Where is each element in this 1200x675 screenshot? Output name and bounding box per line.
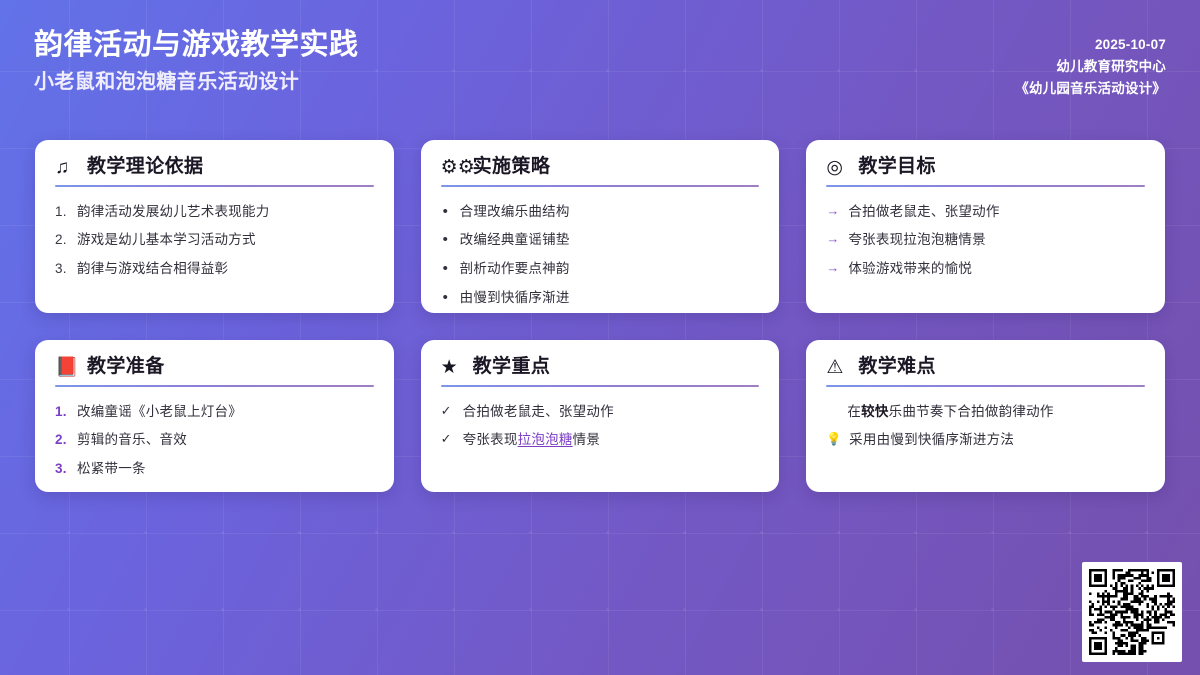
meta-source-book: 《幼儿园音乐活动设计》 xyxy=(1015,78,1166,100)
list-item-marker: 💡 xyxy=(826,430,842,448)
card-teaching-theory-basis: ♫教学理论依据1.韵律活动发展幼儿艺术表现能力2.游戏是幼儿基本学习活动方式3.… xyxy=(35,140,394,313)
list-item-marker: • xyxy=(441,288,453,308)
card-header: ◎教学目标 xyxy=(826,157,1145,185)
page-title: 韵律活动与游戏教学实践 xyxy=(34,28,359,63)
list-item: •改编经典童谣铺垫 xyxy=(441,226,760,255)
list-item-marker: 1. xyxy=(55,202,70,222)
card-grid: ♫教学理论依据1.韵律活动发展幼儿艺术表现能力2.游戏是幼儿基本学习活动方式3.… xyxy=(35,140,1165,492)
list-item-marker: 3. xyxy=(55,259,70,279)
list-item-text: 松紧带一条 xyxy=(77,459,374,479)
list-item: 💡采用由慢到快循序渐进方法 xyxy=(826,426,1145,455)
list-item-text: 韵律与游戏结合相得益彰 xyxy=(77,259,374,279)
list-item-marker: → xyxy=(826,230,841,249)
list-item: 2.游戏是幼儿基本学习活动方式 xyxy=(55,226,374,255)
list-item: 3.松紧带一条 xyxy=(55,455,374,484)
list-item-text: 夸张表现拉泡泡糖情景 xyxy=(463,430,760,450)
music-note-icon: ♫ xyxy=(55,158,78,177)
list-item: 3.韵律与游戏结合相得益彰 xyxy=(55,255,374,284)
card-item-list: •合理改编乐曲结构•改编经典童谣铺垫•剖析动作要点神韵•由慢到快循序渐进 xyxy=(441,197,760,311)
card-item-list: →合拍做老鼠走、张望动作→夸张表现拉泡泡糖情景→体验游戏带来的愉悦 xyxy=(826,197,1145,283)
list-item-text: 夸张表现拉泡泡糖情景 xyxy=(848,230,1145,250)
list-item-marker: ✓ xyxy=(441,402,456,421)
header-meta: 2025-10-07 幼儿教育研究中心 《幼儿园音乐活动设计》 xyxy=(1015,22,1166,100)
list-item-marker: • xyxy=(441,259,453,279)
list-item: →合拍做老鼠走、张望动作 xyxy=(826,197,1145,226)
list-item: •剖析动作要点神韵 xyxy=(441,255,760,284)
book-icon: 📕 xyxy=(55,358,78,377)
card-divider xyxy=(441,185,760,188)
card-implementation-strategy: ⚙⚙实施策略•合理改编乐曲结构•改编经典童谣铺垫•剖析动作要点神韵•由慢到快循序… xyxy=(421,140,780,313)
list-item-marker: → xyxy=(826,259,841,278)
list-item-text: 在较快乐曲节奏下合拍做韵律动作 xyxy=(847,402,1145,422)
qr-code-image xyxy=(1089,569,1175,655)
card-title: 教学重点 xyxy=(473,357,551,378)
text-emphasis: 较快 xyxy=(861,404,889,419)
star-icon: ★ xyxy=(441,358,464,377)
card-divider xyxy=(441,385,760,388)
list-item-text: 合拍做老鼠走、张望动作 xyxy=(463,402,760,422)
card-header: ★教学重点 xyxy=(441,357,760,385)
list-item-text: 采用由慢到快循序渐进方法 xyxy=(849,430,1145,450)
card-title: 教学理论依据 xyxy=(87,157,203,178)
card-item-list: 1.改编童谣《小老鼠上灯台》2.剪辑的音乐、音效3.松紧带一条 xyxy=(55,397,374,483)
qr-code[interactable] xyxy=(1082,562,1182,662)
list-item: ✓合拍做老鼠走、张望动作 xyxy=(441,397,760,426)
list-item-marker: 2. xyxy=(55,430,70,450)
list-item: 1.改编童谣《小老鼠上灯台》 xyxy=(55,397,374,426)
list-item-text: 剪辑的音乐、音效 xyxy=(77,430,374,450)
card-teaching-difficulties: ⚠教学难点在较快乐曲节奏下合拍做韵律动作💡采用由慢到快循序渐进方法 xyxy=(806,340,1165,492)
card-teaching-key-points: ★教学重点✓合拍做老鼠走、张望动作✓夸张表现拉泡泡糖情景 xyxy=(421,340,780,492)
list-item-marker: • xyxy=(441,230,453,250)
list-item-text: 合理改编乐曲结构 xyxy=(460,202,760,222)
card-header: ⚙⚙实施策略 xyxy=(441,157,760,185)
list-item-text: 体验游戏带来的愉悦 xyxy=(848,259,1145,279)
list-item: 2.剪辑的音乐、音效 xyxy=(55,426,374,455)
list-item: •由慢到快循序渐进 xyxy=(441,283,760,312)
card-teaching-objectives: ◎教学目标→合拍做老鼠走、张望动作→夸张表现拉泡泡糖情景→体验游戏带来的愉悦 xyxy=(806,140,1165,313)
card-item-list: ✓合拍做老鼠走、张望动作✓夸张表现拉泡泡糖情景 xyxy=(441,397,760,454)
list-item: 在较快乐曲节奏下合拍做韵律动作 xyxy=(826,397,1145,426)
list-item-text: 由慢到快循序渐进 xyxy=(460,288,760,308)
card-header: ♫教学理论依据 xyxy=(55,157,374,185)
text-segment: 乐曲节奏下合拍做韵律动作 xyxy=(889,404,1054,419)
list-item-marker: 2. xyxy=(55,230,70,250)
card-title: 教学难点 xyxy=(858,357,936,378)
list-item-marker: 1. xyxy=(55,402,70,422)
warning-icon: ⚠ xyxy=(826,358,849,377)
list-item: 1.韵律活动发展幼儿艺术表现能力 xyxy=(55,197,374,226)
text-segment: 夸张表现 xyxy=(463,432,518,447)
text-segment: 情景 xyxy=(573,432,601,447)
card-title: 教学准备 xyxy=(87,357,165,378)
list-item-marker: → xyxy=(826,202,841,221)
header-left: 韵律活动与游戏教学实践 小老鼠和泡泡糖音乐活动设计 xyxy=(34,22,359,97)
list-item-text: 改编经典童谣铺垫 xyxy=(460,230,760,250)
list-item-text: 游戏是幼儿基本学习活动方式 xyxy=(77,230,374,250)
list-item: ✓夸张表现拉泡泡糖情景 xyxy=(441,426,760,455)
card-item-list: 在较快乐曲节奏下合拍做韵律动作💡采用由慢到快循序渐进方法 xyxy=(826,397,1145,454)
target-icon: ◎ xyxy=(826,158,849,177)
card-header: ⚠教学难点 xyxy=(826,357,1145,385)
card-header: 📕教学准备 xyxy=(55,357,374,385)
text-highlight-link[interactable]: 拉泡泡糖 xyxy=(518,432,573,447)
list-item-marker: • xyxy=(441,202,453,222)
list-item-text: 韵律活动发展幼儿艺术表现能力 xyxy=(77,202,374,222)
list-item: →夸张表现拉泡泡糖情景 xyxy=(826,226,1145,255)
card-title: 实施策略 xyxy=(473,157,551,178)
card-divider xyxy=(826,385,1145,388)
list-item-marker: 3. xyxy=(55,459,70,479)
card-divider xyxy=(55,185,374,188)
meta-date: 2025-10-07 xyxy=(1015,34,1166,56)
list-item-text: 剖析动作要点神韵 xyxy=(460,259,760,279)
list-item-text: 改编童谣《小老鼠上灯台》 xyxy=(77,402,374,422)
card-title: 教学目标 xyxy=(858,157,936,178)
meta-organization: 幼儿教育研究中心 xyxy=(1015,56,1166,78)
list-item: →体验游戏带来的愉悦 xyxy=(826,255,1145,284)
gears-icon: ⚙⚙ xyxy=(441,158,464,177)
card-divider xyxy=(826,185,1145,188)
slide-header: 韵律活动与游戏教学实践 小老鼠和泡泡糖音乐活动设计 2025-10-07 幼儿教… xyxy=(0,0,1200,122)
card-teaching-preparation: 📕教学准备1.改编童谣《小老鼠上灯台》2.剪辑的音乐、音效3.松紧带一条 xyxy=(35,340,394,492)
list-item: •合理改编乐曲结构 xyxy=(441,197,760,226)
card-item-list: 1.韵律活动发展幼儿艺术表现能力2.游戏是幼儿基本学习活动方式3.韵律与游戏结合… xyxy=(55,197,374,283)
list-item-marker: ✓ xyxy=(441,430,456,449)
text-segment: 在 xyxy=(847,404,861,419)
page-subtitle: 小老鼠和泡泡糖音乐活动设计 xyxy=(34,67,359,97)
card-divider xyxy=(55,385,374,388)
list-item-text: 合拍做老鼠走、张望动作 xyxy=(848,202,1145,222)
